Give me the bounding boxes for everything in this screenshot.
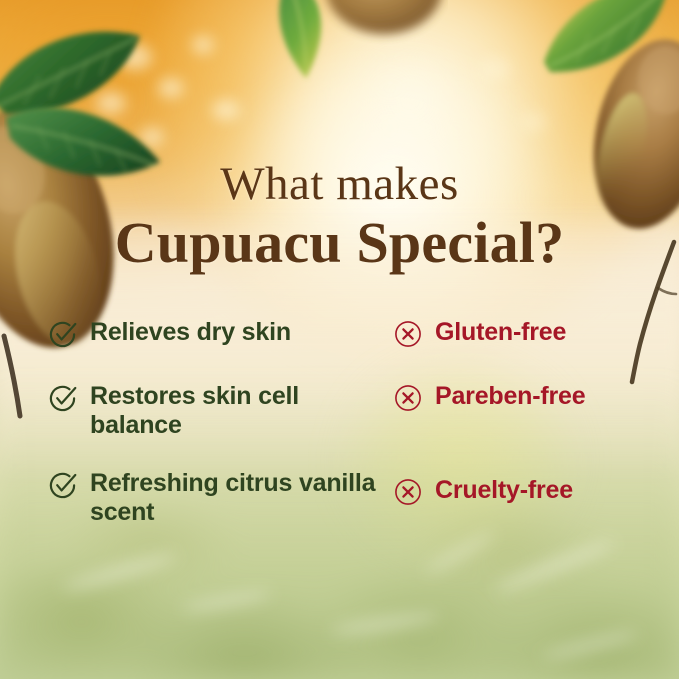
headline-line-1: What makes [0, 161, 679, 208]
cupuacu-fruit-top-center [318, 0, 448, 52]
list-item: Gluten-free [393, 318, 648, 349]
claim-label: Pareben-free [435, 382, 585, 411]
bokeh-speck [192, 36, 214, 54]
check-circle-icon [48, 470, 78, 500]
benefits-column-left: Relieves dry skin Restores skin cell bal… [48, 318, 393, 526]
headline-line-2: Cupuacu Special? [0, 214, 679, 272]
benefit-label: Refreshing citrus vanilla scent [90, 469, 393, 526]
list-item: Pareben-free [393, 382, 648, 413]
claim-label: Cruelty-free [435, 476, 573, 505]
benefit-label: Restores skin cell balance [90, 382, 393, 439]
check-circle-icon [48, 383, 78, 413]
benefits-column-right: Gluten-free Pareben-free [393, 318, 648, 526]
page-title: What makes Cupuacu Special? [0, 161, 679, 272]
x-circle-icon [393, 477, 423, 507]
bokeh-speck [480, 58, 510, 80]
branch-left [0, 330, 38, 440]
x-circle-icon [393, 319, 423, 349]
benefit-label: Relieves dry skin [90, 318, 291, 347]
benefits-section: Relieves dry skin Restores skin cell bal… [48, 318, 648, 526]
bokeh-speck [520, 112, 546, 132]
list-item: Refreshing citrus vanilla scent [48, 469, 393, 526]
claim-label: Gluten-free [435, 318, 566, 347]
list-item: Cruelty-free [393, 476, 648, 507]
bokeh-speck [212, 100, 240, 120]
product-benefits-poster: What makes Cupuacu Special? Relieves dry… [0, 0, 679, 679]
x-circle-icon [393, 383, 423, 413]
check-circle-icon [48, 319, 78, 349]
list-item: Relieves dry skin [48, 318, 393, 349]
list-item: Restores skin cell balance [48, 382, 393, 439]
